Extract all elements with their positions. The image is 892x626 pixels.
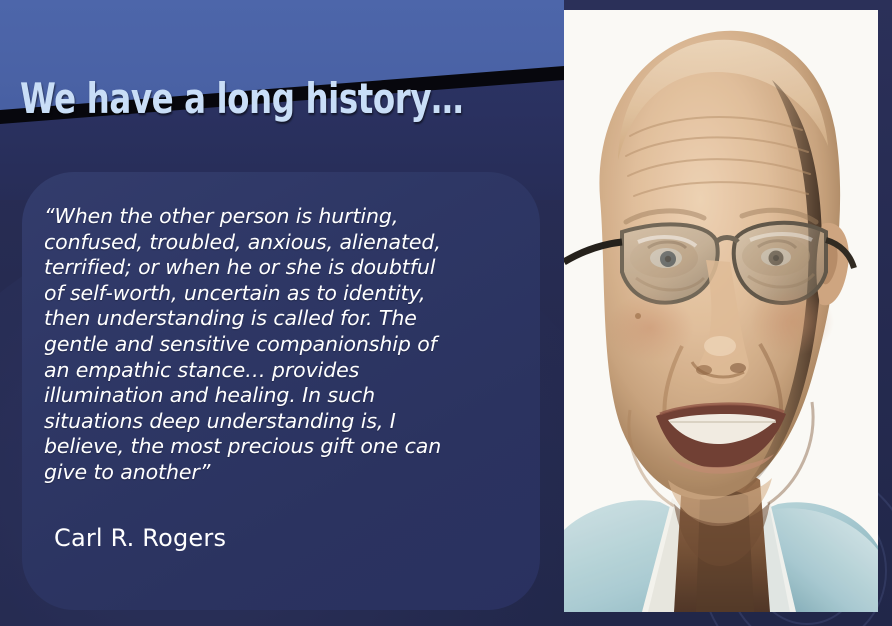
slide: We have a long history… “When the other …	[0, 0, 892, 626]
portrait-photo	[564, 10, 878, 612]
portrait-photo-image	[564, 10, 878, 612]
page-title: We have a long history…	[20, 78, 463, 120]
quote-panel: “When the other person is hurting, confu…	[22, 172, 540, 610]
quote-author: Carl R. Rogers	[54, 524, 226, 552]
quote-text: “When the other person is hurting, confu…	[44, 204, 514, 486]
